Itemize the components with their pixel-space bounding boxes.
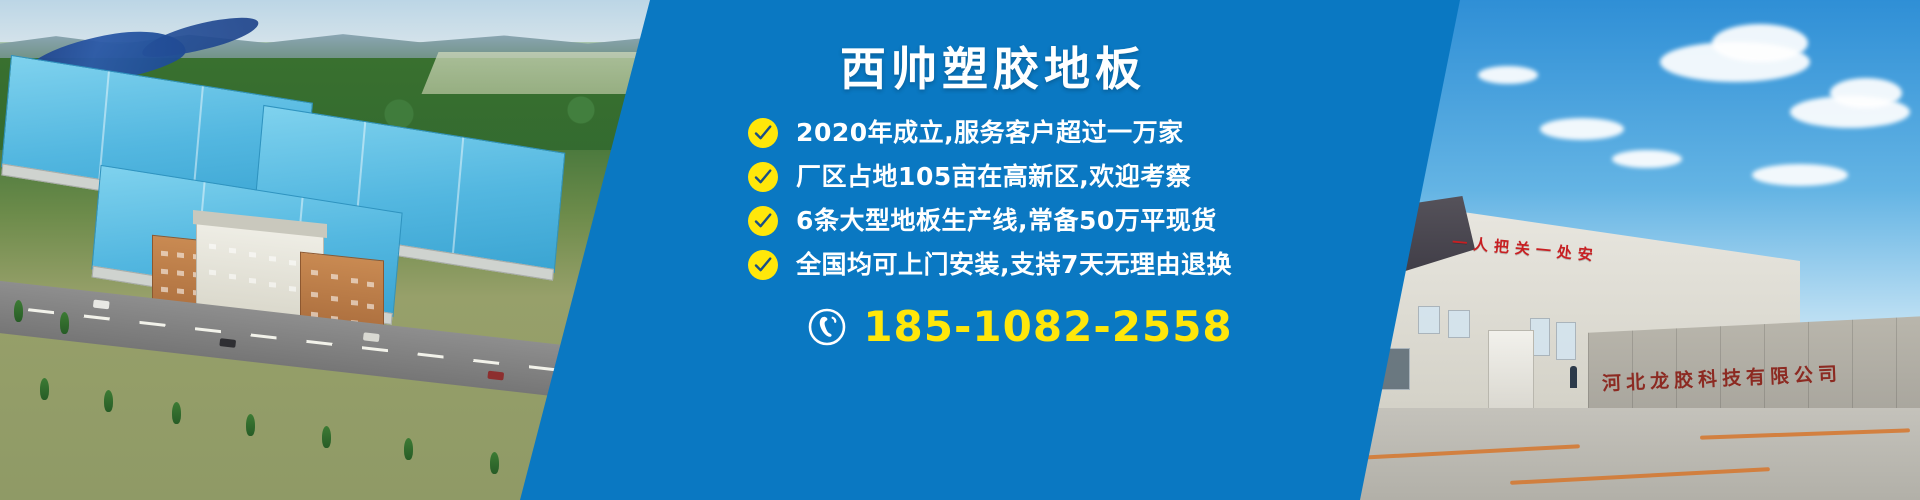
promo-text-panel: 西帅塑胶地板 2020年成立,服务客户超过一万家 (520, 0, 1460, 500)
promo-banner: 一人把关一处安 河北龙胶科技有限公司 西帅塑胶地板 (0, 0, 1920, 500)
check-circle-icon (748, 250, 778, 280)
feature-label: 2020年成立,服务客户超过一万家 (796, 119, 1184, 148)
phone-handset-icon (807, 307, 847, 347)
list-item: 6条大型地板生产线,常备50万平现货 (748, 206, 1232, 236)
check-circle-icon (748, 206, 778, 236)
list-item: 全国均可上门安装,支持7天无理由退换 (748, 250, 1232, 280)
phone-number-text: 185-1082-2558 (863, 306, 1232, 348)
feature-list: 2020年成立,服务客户超过一万家 厂区占地105亩在高新区,欢迎考察 (748, 118, 1232, 280)
feature-label: 厂区占地105亩在高新区,欢迎考察 (796, 163, 1191, 192)
contact-phone[interactable]: 185-1082-2558 (747, 306, 1232, 348)
list-item: 2020年成立,服务客户超过一万家 (748, 118, 1232, 148)
factory-door (1488, 330, 1534, 410)
feature-label: 全国均可上门安装,支持7天无理由退换 (796, 251, 1232, 280)
page-title: 西帅塑胶地板 (834, 46, 1146, 92)
check-circle-icon (748, 118, 778, 148)
person-silhouette (1570, 366, 1577, 388)
field-region (422, 52, 649, 94)
list-item: 厂区占地105亩在高新区,欢迎考察 (748, 162, 1232, 192)
check-circle-icon (748, 162, 778, 192)
feature-label: 6条大型地板生产线,常备50万平现货 (796, 207, 1217, 236)
